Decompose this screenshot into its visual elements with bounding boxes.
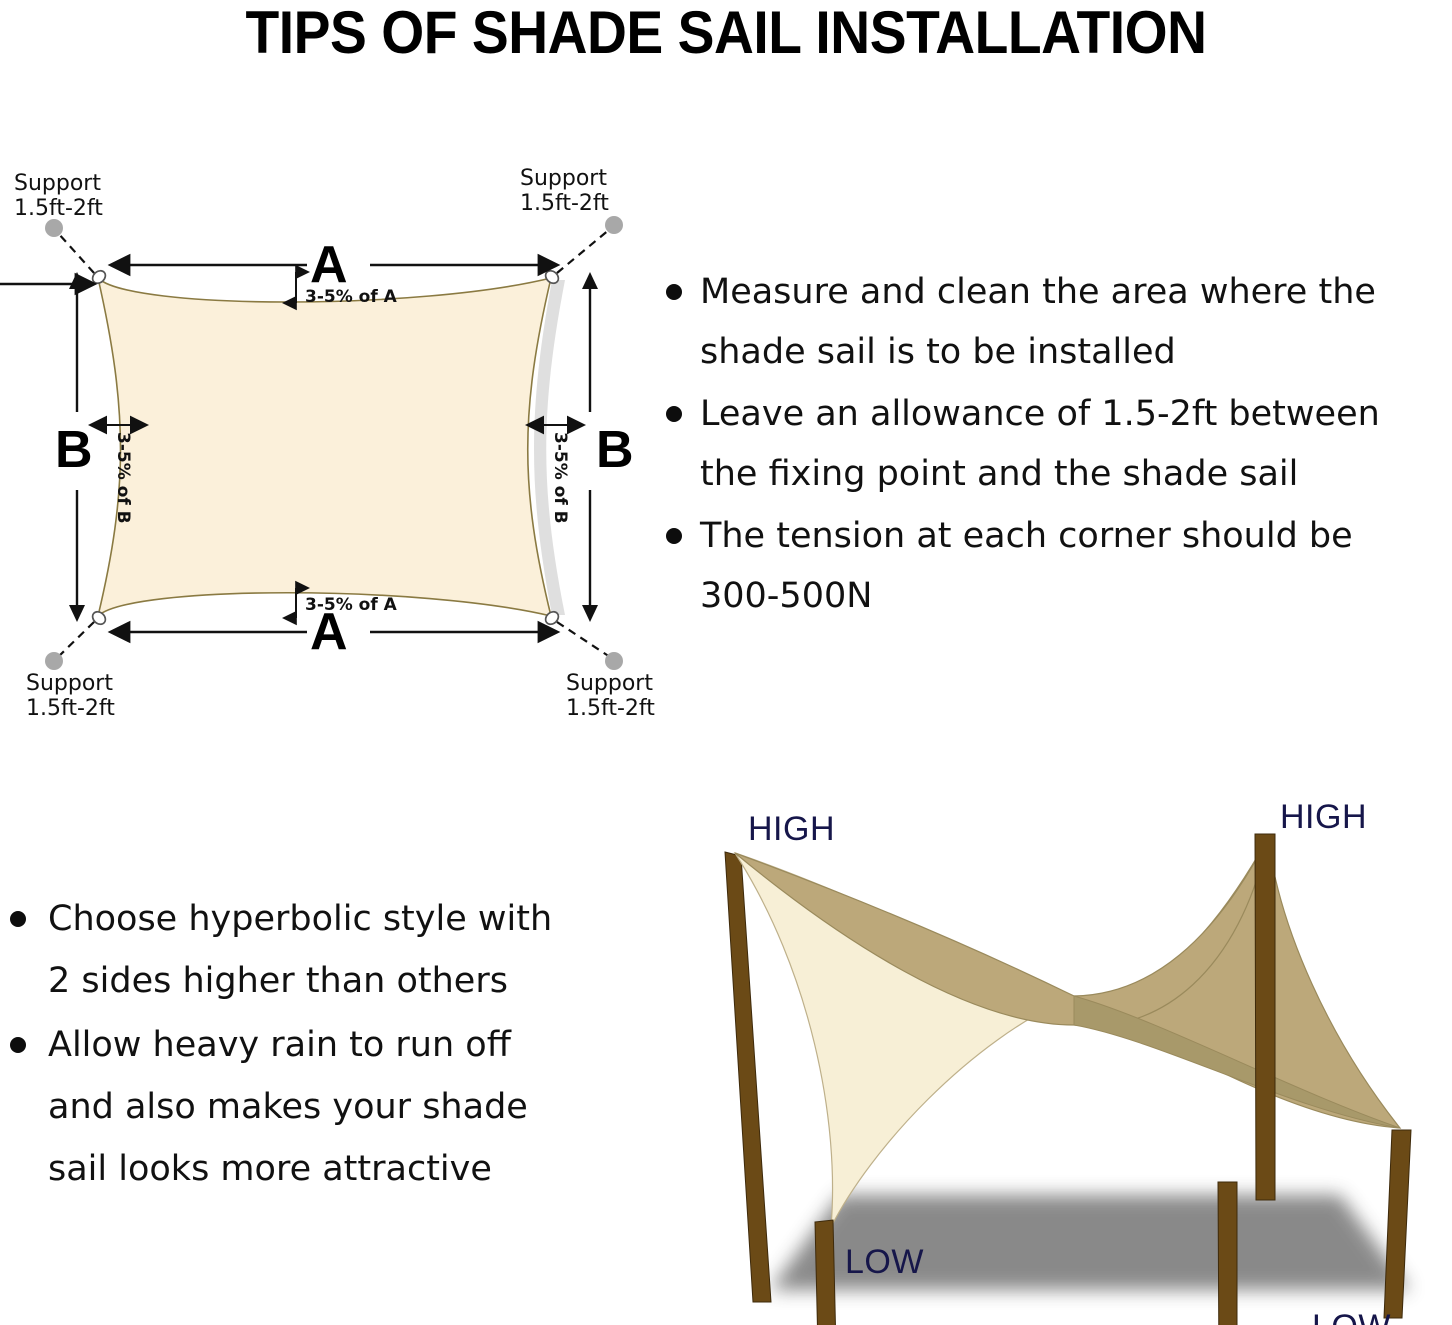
curve-label-b-left: 3-5% of B — [113, 432, 133, 524]
pole-low-left — [815, 1220, 837, 1325]
support-label-bottom-right-line2: 1.5ft-2ft — [566, 696, 655, 721]
bullet-dot-icon — [10, 1037, 26, 1053]
tether-top-right — [557, 229, 610, 273]
dim-arrowhead-b-right-bottom — [582, 605, 598, 622]
support-label-bottom-right-line1: Support — [566, 671, 653, 696]
tip-line: Measure and clean the area where the — [700, 262, 1452, 322]
dim-label-b-right: B — [596, 421, 634, 479]
hyperbolic-tips-list: Choose hyperbolic style with 2 sides hig… — [0, 888, 620, 1238]
label-high-right: HIGH — [1280, 798, 1367, 836]
tip-line: 2 sides higher than others — [48, 950, 620, 1012]
rectangular-sail-diagram: Support 1.5ft-2ft Support 1.5ft-2ft Supp… — [0, 160, 660, 750]
pole-mid-right — [1218, 1182, 1237, 1325]
dim-label-a-top: A — [310, 236, 348, 294]
bullet-dot-icon — [666, 406, 682, 422]
label-low-right: LOW — [1312, 1308, 1391, 1325]
support-label-top-left-line2: 1.5ft-2ft — [14, 196, 103, 221]
pole-high-left — [725, 852, 771, 1302]
support-label-top-right-line2: 1.5ft-2ft — [520, 191, 609, 216]
bullet-dot-icon — [666, 528, 682, 544]
tip-line: 300-500N — [700, 566, 1452, 626]
tip-line: and also makes your shade — [48, 1076, 620, 1138]
tip-line: shade sail is to be installed — [700, 322, 1452, 382]
tether-top-left — [58, 233, 94, 273]
dim-arrowhead-b-left-bottom — [69, 605, 85, 622]
list-item: Leave an allowance of 1.5-2ft between th… — [648, 384, 1452, 504]
tip-line: the fixing point and the shade sail — [700, 444, 1452, 504]
tether-bottom-left — [58, 622, 94, 657]
label-low-left: LOW — [845, 1243, 924, 1281]
support-label-top-right-line1: Support — [520, 166, 607, 191]
curve-label-a-bottom: 3-5% of A — [305, 595, 398, 615]
hyperbolic-sail-diagram: HIGH HIGH LOW LOW — [640, 790, 1452, 1325]
support-dot-bottom-right — [605, 652, 623, 670]
tip-line: Leave an allowance of 1.5-2ft between — [700, 384, 1452, 444]
tip-line: Allow heavy rain to run off — [48, 1014, 620, 1076]
pole-high-right — [1255, 834, 1275, 1200]
tip-line: sail looks more attractive — [48, 1138, 620, 1200]
sail-surface-dark — [1074, 838, 1400, 1128]
list-item: Measure and clean the area where the sha… — [648, 262, 1452, 382]
dim-arrowhead-b-right-top — [582, 272, 598, 289]
support-dot-bottom-left — [45, 652, 63, 670]
support-label-top-left-line1: Support — [14, 171, 101, 196]
tether-bottom-right — [557, 622, 610, 657]
hyperbolic-bullet-list: Choose hyperbolic style with 2 sides hig… — [0, 888, 620, 1200]
curve-label-a-top: 3-5% of A — [305, 287, 398, 307]
support-dot-top-right — [605, 216, 623, 234]
bullet-dot-icon — [10, 911, 26, 927]
dim-arrowhead-b-left-top — [69, 272, 85, 289]
sail-surface-light — [735, 853, 1074, 1227]
dim-label-b-left: B — [55, 421, 93, 479]
support-label-bottom-left-line1: Support — [26, 671, 113, 696]
curve-label-b-right: 3-5% of B — [550, 432, 570, 524]
tip-line: Choose hyperbolic style with — [48, 888, 620, 950]
list-item: Allow heavy rain to run off and also mak… — [0, 1014, 620, 1200]
bullet-dot-icon — [666, 284, 682, 300]
tip-line: The tension at each corner should be — [700, 506, 1452, 566]
label-high-left: HIGH — [748, 810, 835, 848]
installation-tips-list: Measure and clean the area where the sha… — [648, 262, 1452, 682]
support-dot-top-left — [45, 219, 63, 237]
list-item: The tension at each corner should be 300… — [648, 506, 1452, 626]
support-label-bottom-left-line2: 1.5ft-2ft — [26, 696, 115, 721]
page-title: TIPS OF SHADE SAIL INSTALLATION — [58, 0, 1394, 66]
sail-body — [98, 278, 551, 616]
list-item: Choose hyperbolic style with 2 sides hig… — [0, 888, 620, 1012]
tips-bullet-list: Measure and clean the area where the sha… — [648, 262, 1452, 626]
